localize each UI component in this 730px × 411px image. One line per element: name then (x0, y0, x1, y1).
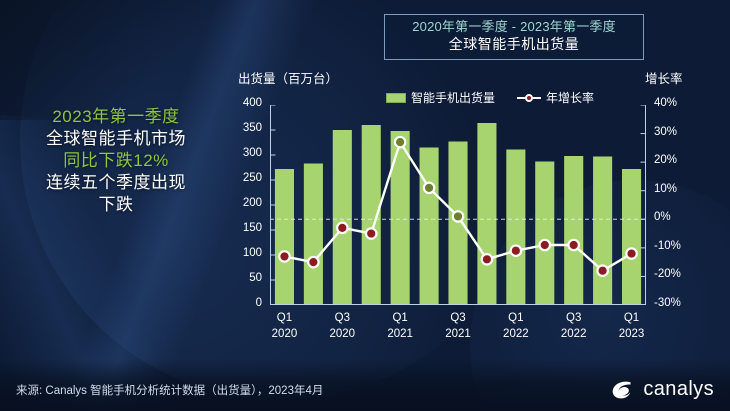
x-tick-year-4: 2022 (503, 327, 529, 343)
bar-6 (448, 142, 467, 306)
y-right-tick-label-6: 30% (654, 126, 698, 138)
growth-marker-3 (366, 228, 376, 238)
x-tick-year-5: 2022 (561, 327, 587, 343)
x-tick-label-5: Q32022 (561, 311, 587, 342)
y-left-tick-label-3: 150 (230, 222, 262, 234)
chart-legend: 智能手机出货量 年增长率 (386, 89, 594, 106)
y-left-tick-label-7: 350 (230, 122, 262, 134)
bar-5 (420, 148, 439, 306)
chart-title-main: 全球智能手机出货量 (391, 35, 637, 53)
legend-item-shipments: 智能手机出货量 (386, 89, 495, 106)
y-right-tick-label-4: 10% (654, 183, 698, 195)
bar-2 (333, 130, 352, 305)
x-tick-quarter-2: Q1 (387, 311, 413, 327)
growth-marker-11 (597, 266, 607, 276)
y-right-tick-label-2: -10% (654, 240, 698, 252)
x-tick-quarter-6: Q1 (619, 311, 645, 327)
growth-marker-0 (279, 251, 289, 261)
canalys-wordmark: canalys (643, 378, 714, 401)
x-tick-label-1: Q32020 (330, 311, 356, 342)
x-tick-year-3: 2021 (445, 327, 471, 343)
chart-slide: 2023年第一季度 全球智能手机市场 同比下跌12% 连续五个季度出现 下跌 2… (0, 0, 730, 411)
y-left-tick-label-0: 0 (230, 297, 262, 309)
bar-10 (564, 156, 583, 305)
x-tick-year-6: 2023 (619, 327, 645, 343)
x-tick-label-0: Q12020 (272, 311, 298, 342)
chart-title-period: 2020年第一季度 - 2023年第一季度 (391, 19, 637, 35)
y-left-tick-label-4: 200 (230, 197, 262, 209)
y-left-tick-label-2: 100 (230, 247, 262, 259)
y-axis-right-title: 增长率 (645, 68, 683, 87)
bar-7 (477, 123, 496, 305)
y-left-tick-label-1: 50 (230, 272, 262, 284)
plot-area (270, 105, 646, 305)
x-tick-quarter-4: Q1 (503, 311, 529, 327)
headline-line-1: 2023年第一季度 (0, 106, 232, 128)
legend-item-growth: 年增长率 (517, 89, 594, 106)
growth-marker-9 (540, 240, 550, 250)
canalys-logo: canalys (610, 378, 714, 401)
bar-8 (506, 150, 525, 306)
headline-line-5: 下跌 (0, 194, 232, 216)
x-tick-quarter-5: Q3 (561, 311, 587, 327)
x-tick-year-1: 2020 (330, 327, 356, 343)
bar-9 (535, 162, 554, 306)
y-right-tick-label-0: -30% (654, 297, 698, 309)
growth-marker-2 (337, 223, 347, 233)
y-right-tick-label-5: 20% (654, 154, 698, 166)
growth-marker-10 (568, 240, 578, 250)
x-tick-label-3: Q32021 (445, 311, 471, 342)
background-corner-shade (0, 0, 200, 120)
x-tick-label-4: Q12022 (503, 311, 529, 342)
x-tick-year-2: 2021 (387, 327, 413, 343)
x-tick-year-0: 2020 (272, 327, 298, 343)
bar-1 (304, 164, 323, 306)
bar-0 (275, 169, 294, 305)
headline-line-3: 同比下跌12% (0, 150, 232, 172)
growth-marker-5 (424, 183, 434, 193)
headline-line-2: 全球智能手机市场 (0, 128, 232, 150)
y-axis-left-title: 出货量（百万台） (238, 68, 338, 87)
x-tick-label-6: Q12023 (619, 311, 645, 342)
growth-marker-1 (308, 257, 318, 267)
legend-line-marker-icon (517, 93, 541, 103)
growth-marker-6 (453, 211, 463, 221)
growth-marker-7 (482, 254, 492, 264)
x-tick-quarter-0: Q1 (272, 311, 298, 327)
y-left-tick-label-8: 400 (230, 97, 262, 109)
source-note: 来源: Canalys 智能手机分析统计数据（出货量），2023年4月 (16, 382, 323, 398)
headline-line-4: 连续五个季度出现 (0, 172, 232, 194)
y-right-tick-label-7: 40% (654, 97, 698, 109)
y-right-tick-label-3: 0% (654, 211, 698, 223)
bar-12 (622, 169, 641, 305)
y-right-tick-label-1: -20% (654, 268, 698, 280)
legend-label-shipments: 智能手机出货量 (411, 89, 495, 106)
bar-4 (391, 131, 410, 305)
growth-marker-4 (395, 137, 405, 147)
bar-11 (593, 157, 612, 306)
x-tick-quarter-1: Q3 (330, 311, 356, 327)
y-left-tick-label-6: 300 (230, 147, 262, 159)
y-left-tick-label-5: 250 (230, 172, 262, 184)
chart-title-box: 2020年第一季度 - 2023年第一季度 全球智能手机出货量 (384, 14, 644, 60)
x-tick-label-2: Q12021 (387, 311, 413, 342)
headline-block: 2023年第一季度 全球智能手机市场 同比下跌12% 连续五个季度出现 下跌 (0, 106, 232, 216)
canalys-swirl-icon (610, 379, 636, 401)
growth-marker-8 (511, 246, 521, 256)
growth-marker-12 (626, 248, 636, 258)
legend-bar-swatch-icon (386, 93, 406, 103)
legend-label-growth: 年增长率 (546, 89, 594, 106)
x-tick-quarter-3: Q3 (445, 311, 471, 327)
chart-svg (270, 105, 646, 305)
x-axis-ticks: Q12020Q32020Q12021Q32021Q12022Q32022Q120… (270, 311, 646, 357)
